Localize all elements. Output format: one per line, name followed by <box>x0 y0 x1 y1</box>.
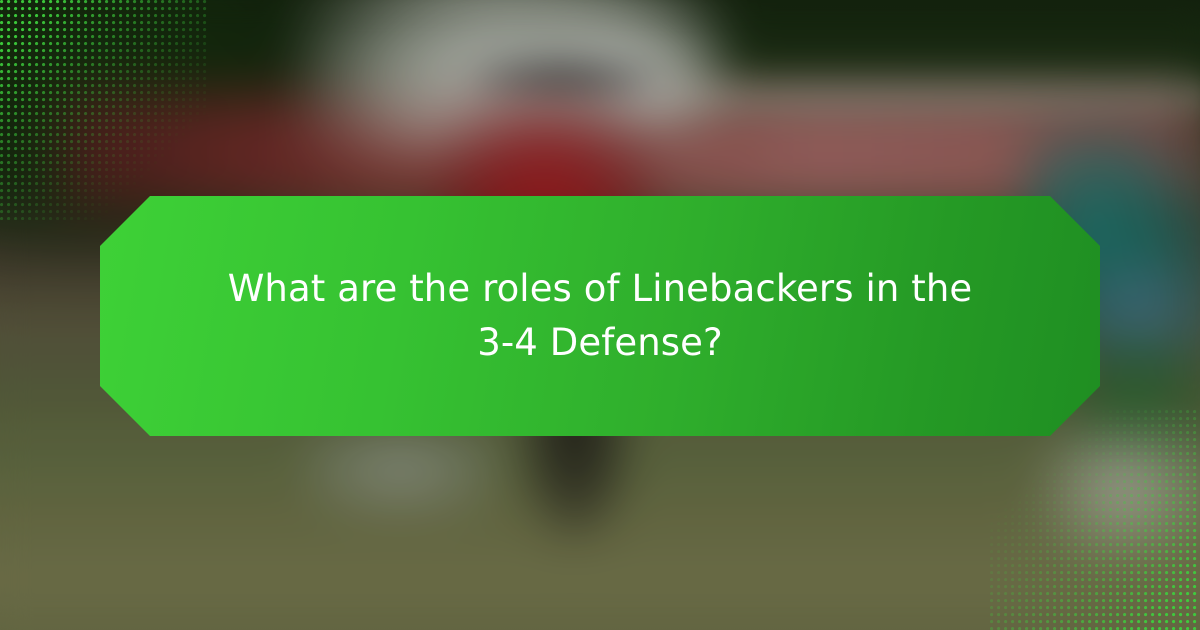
page-title: What are the roles of Linebackers in the… <box>205 262 995 370</box>
social-card-canvas: What are the roles of Linebackers in the… <box>0 0 1200 630</box>
question-banner: What are the roles of Linebackers in the… <box>100 196 1100 436</box>
